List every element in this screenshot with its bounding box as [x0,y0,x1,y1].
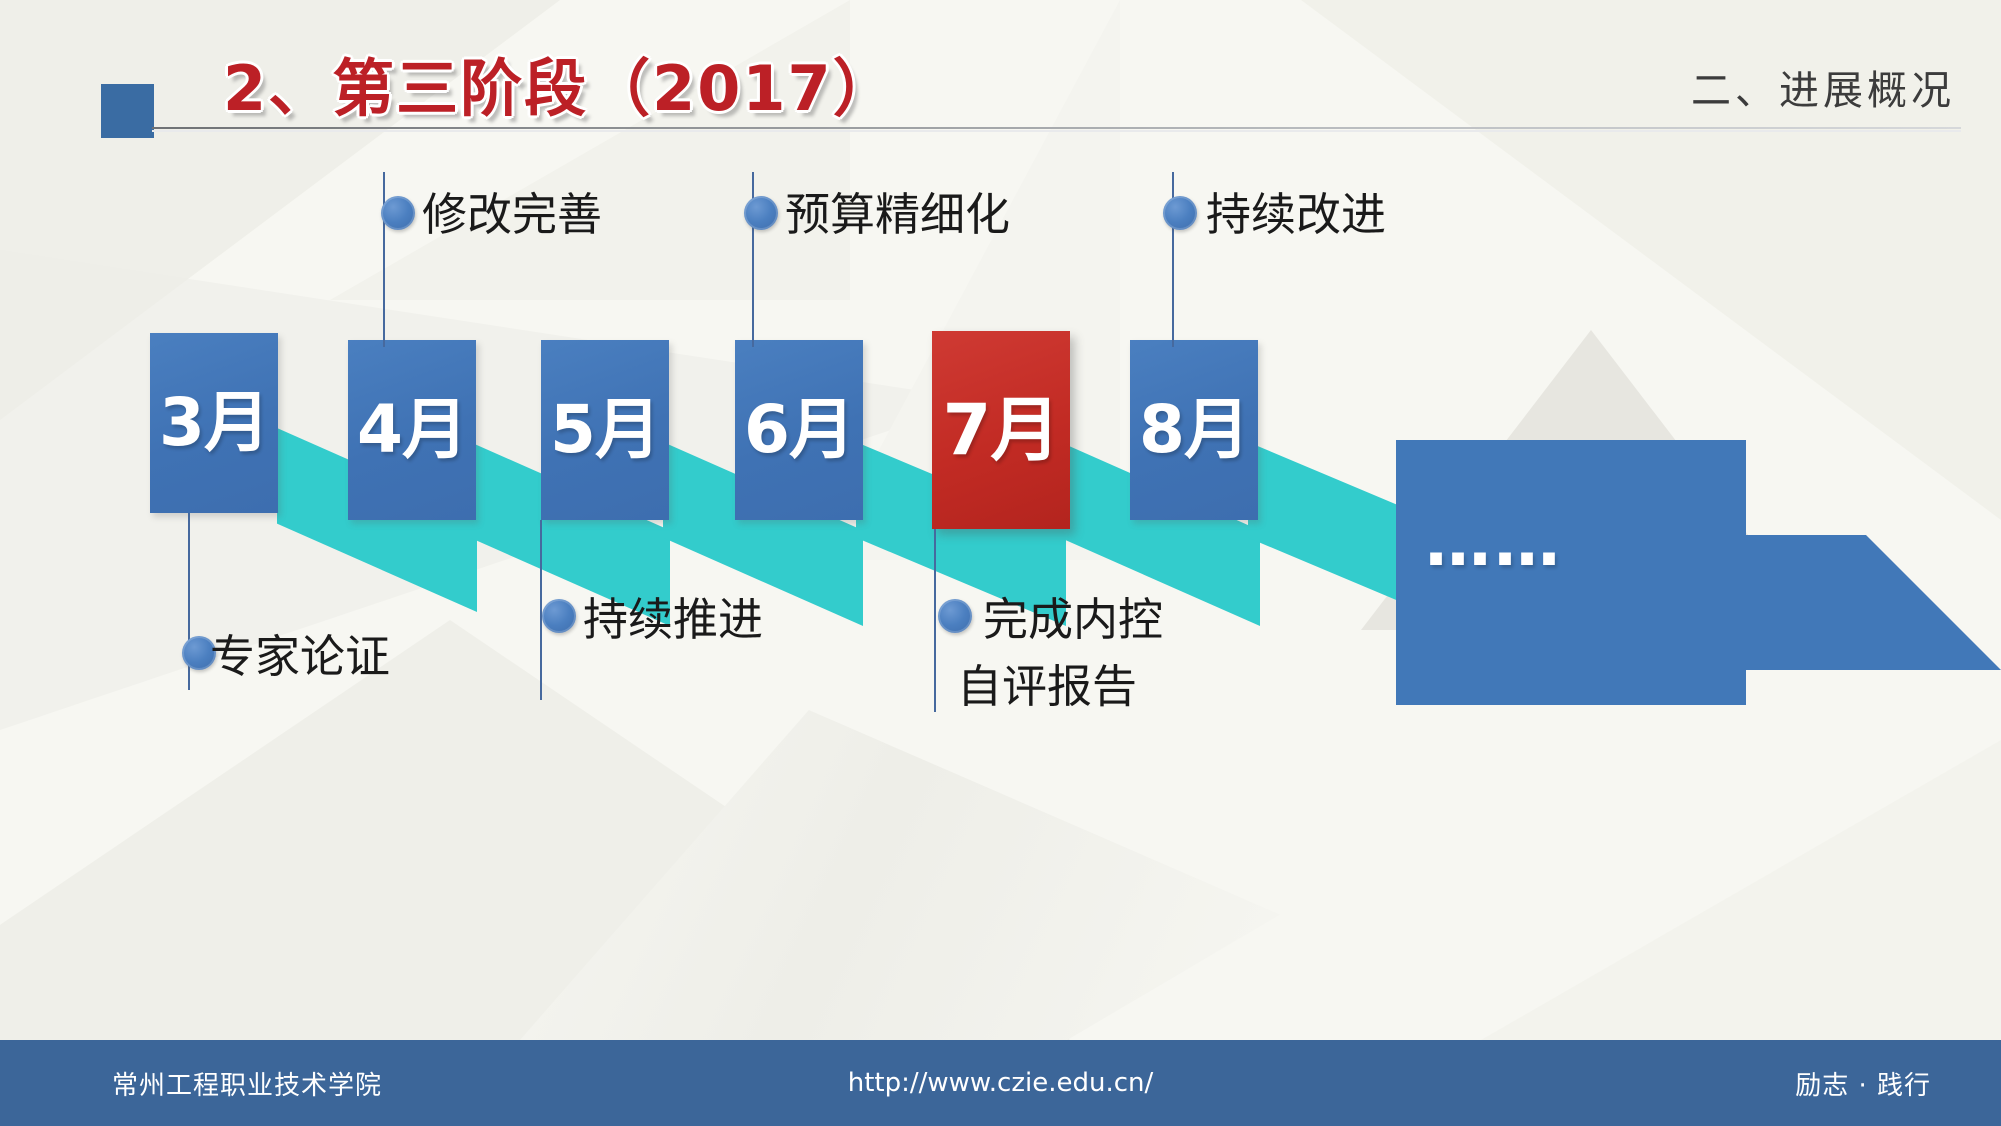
callout-label-below-3: 专家论证 [210,628,390,686]
callout-marker-below-5 [542,599,576,633]
slide-canvas: 2、第三阶段（2017） 二、进展概况 …… 3月 4月 5月 6月 [0,0,2001,1126]
timeline-step-label: 8月 [1139,397,1249,463]
callout-marker-below-7 [938,599,972,633]
leader-line-below-7 [934,529,936,712]
callout-marker-above-4 [381,196,415,230]
timeline: …… 3月 4月 5月 6月 7月 8月 修改完善 预算精细化 持续改进 [0,0,2001,1126]
timeline-step-label: 3月 [159,390,269,456]
callout-label-above-4: 修改完善 [422,186,602,244]
leader-line-below-5 [540,520,542,700]
timeline-step-6[interactable]: 6月 [735,340,863,520]
timeline-step-4[interactable]: 4月 [348,340,476,520]
footer-motto: 励志 · 践行 [1795,1065,1931,1102]
footer-institution: 常州工程职业技术学院 [112,1065,382,1102]
callout-label-above-6: 预算精细化 [785,186,1010,244]
timeline-step-label: 7月 [943,395,1060,465]
timeline-step-5[interactable]: 5月 [541,340,669,520]
timeline-step-8[interactable]: 8月 [1130,340,1258,520]
timeline-step-label: 5月 [550,397,660,463]
leader-line-above-4 [383,172,385,347]
callout-marker-above-6 [744,196,778,230]
timeline-step-label: 4月 [357,397,467,463]
callout-label-above-8: 持续改进 [1206,186,1386,244]
callout-label-below-7-line1: 完成内控 [983,591,1163,649]
timeline-step-label: 6月 [744,397,854,463]
footer-bar: 常州工程职业技术学院 http://www.czie.edu.cn/ 励志 · … [0,1040,2001,1126]
callout-label-below-7-line2: 自评报告 [957,658,1137,716]
timeline-step-7-current[interactable]: 7月 [932,331,1070,529]
footer-url[interactable]: http://www.czie.edu.cn/ [848,1068,1154,1098]
timeline-step-3[interactable]: 3月 [150,333,278,513]
callout-label-below-5: 持续推进 [583,591,763,649]
callout-marker-above-8 [1163,196,1197,230]
tail-ellipsis-label: …… [1425,510,1563,576]
